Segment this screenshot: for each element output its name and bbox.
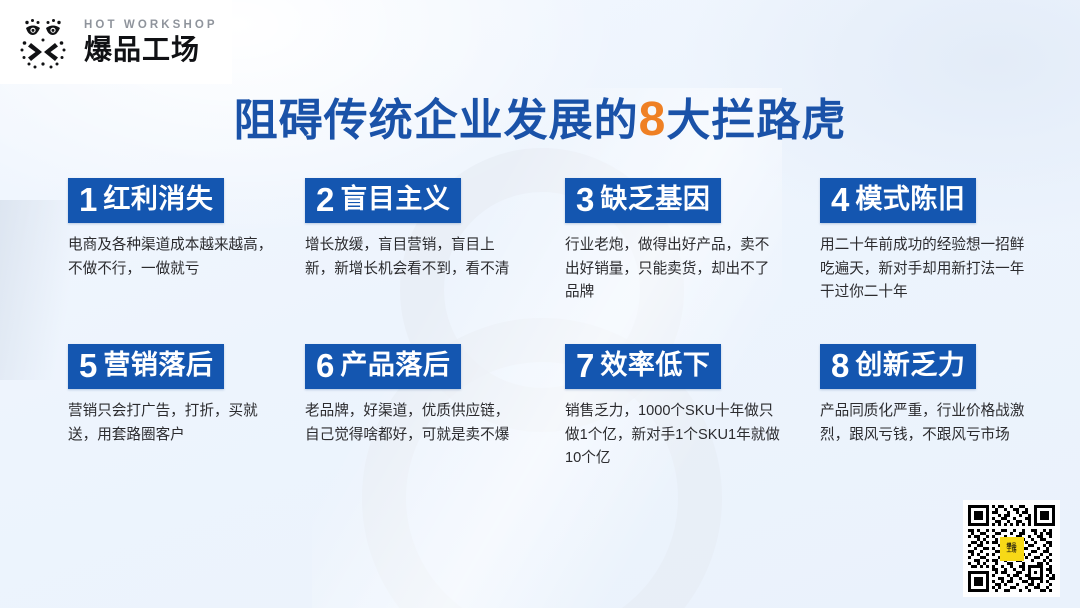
obstacle-card-6: 6 产品落后 老品牌，好渠道，优质供应链，自己觉得啥都好，可就是卖不爆: [305, 344, 540, 447]
obstacle-badge-1: 1 红利消失: [68, 178, 224, 223]
obstacle-number-8: 8: [831, 349, 849, 382]
obstacle-badge-2: 2 盲目主义: [305, 178, 461, 223]
brand-text: HOT WORKSHOP 爆品工场: [84, 20, 218, 65]
obstacle-heading-4: 模式陈旧: [855, 186, 965, 213]
brand-english-name: HOT WORKSHOP: [84, 20, 218, 32]
obstacle-description-6: 老品牌，好渠道，优质供应链，自己觉得啥都好，可就是卖不爆: [305, 400, 523, 447]
obstacles-row-1: 1 红利消失 电商及各种渠道成本越来越高，不做不行，一做就亏 2 盲目主义 增长…: [0, 178, 1080, 344]
obstacle-description-3: 行业老炮，做得出好产品，卖不出好销量，只能卖货，却出不了品牌: [565, 234, 783, 305]
obstacle-description-7: 销售乏力，1000个SKU十年做只做1个亿，新对手1个SKU1年就做10个亿: [565, 400, 783, 471]
page-title-number: 8: [639, 93, 667, 146]
qr-code[interactable]: 爆品 工场: [963, 500, 1060, 597]
page-title-prefix: 阻碍传统企业发展的: [234, 96, 639, 145]
slide-root: HOT WORKSHOP 爆品工场 阻碍传统企业发展的8大拦路虎 1 红利消失 …: [0, 0, 1080, 608]
obstacle-card-8: 8 创新乏力 产品同质化严重，行业价格战激烈，跟风亏钱，不跟风亏市场: [820, 344, 1055, 447]
brand-chinese-name: 爆品工场: [84, 36, 218, 64]
obstacle-heading-7: 效率低下: [600, 352, 710, 379]
obstacle-heading-3: 缺乏基因: [600, 186, 710, 213]
obstacle-number-2: 2: [316, 183, 334, 216]
tiger-face-logo-icon: [18, 12, 78, 72]
obstacle-badge-5: 5 营销落后: [68, 344, 224, 389]
obstacle-badge-4: 4 模式陈旧: [820, 178, 976, 223]
obstacle-description-4: 用二十年前成功的经验想一招鲜吃遍天，新对手却用新打法一年干过你二十年: [820, 234, 1028, 305]
header-bar: HOT WORKSHOP 爆品工场: [0, 0, 232, 84]
obstacle-card-4: 4 模式陈旧 用二十年前成功的经验想一招鲜吃遍天，新对手却用新打法一年干过你二十…: [820, 178, 1055, 305]
obstacle-badge-3: 3 缺乏基因: [565, 178, 721, 223]
obstacle-description-8: 产品同质化严重，行业价格战激烈，跟风亏钱，不跟风亏市场: [820, 400, 1028, 447]
obstacle-heading-1: 红利消失: [103, 186, 213, 213]
obstacle-heading-2: 盲目主义: [340, 186, 450, 213]
obstacle-badge-6: 6 产品落后: [305, 344, 461, 389]
obstacle-heading-8: 创新乏力: [855, 352, 965, 379]
obstacle-description-1: 电商及各种渠道成本越来越高，不做不行，一做就亏: [68, 234, 286, 281]
page-title-suffix: 大拦路虎: [666, 96, 846, 145]
brand-logo: HOT WORKSHOP 爆品工场: [18, 10, 218, 74]
obstacle-card-5: 5 营销落后 营销只会打广告，打折，买就送，用套路圈客户: [68, 344, 303, 447]
obstacle-number-1: 1: [79, 183, 97, 216]
obstacle-card-3: 3 缺乏基因 行业老炮，做得出好产品，卖不出好销量，只能卖货，却出不了品牌: [565, 178, 800, 305]
qr-logo-line2: 工场: [1006, 549, 1016, 554]
obstacle-badge-7: 7 效率低下: [565, 344, 721, 389]
obstacle-number-6: 6: [316, 349, 334, 382]
obstacle-card-1: 1 红利消失 电商及各种渠道成本越来越高，不做不行，一做就亏: [68, 178, 303, 281]
obstacle-heading-6: 产品落后: [340, 352, 450, 379]
qr-code-logo: 爆品 工场: [1000, 537, 1024, 561]
obstacles-grid: 1 红利消失 电商及各种渠道成本越来越高，不做不行，一做就亏 2 盲目主义 增长…: [0, 178, 1080, 510]
obstacle-description-5: 营销只会打广告，打折，买就送，用套路圈客户: [68, 400, 286, 447]
obstacle-description-2: 增长放缓，盲目营销，盲目上新，新增长机会看不到，看不清: [305, 234, 523, 281]
obstacle-card-7: 7 效率低下 销售乏力，1000个SKU十年做只做1个亿，新对手1个SKU1年就…: [565, 344, 800, 471]
obstacle-badge-8: 8 创新乏力: [820, 344, 976, 389]
obstacle-heading-5: 营销落后: [103, 352, 213, 379]
obstacle-number-3: 3: [576, 183, 594, 216]
obstacle-card-2: 2 盲目主义 增长放缓，盲目营销，盲目上新，新增长机会看不到，看不清: [305, 178, 540, 281]
page-title: 阻碍传统企业发展的8大拦路虎: [0, 94, 1080, 147]
obstacle-number-7: 7: [576, 349, 594, 382]
obstacles-row-2: 5 营销落后 营销只会打广告，打折，买就送，用套路圈客户 6 产品落后 老品牌，…: [0, 344, 1080, 510]
obstacle-number-4: 4: [831, 183, 849, 216]
obstacle-number-5: 5: [79, 349, 97, 382]
